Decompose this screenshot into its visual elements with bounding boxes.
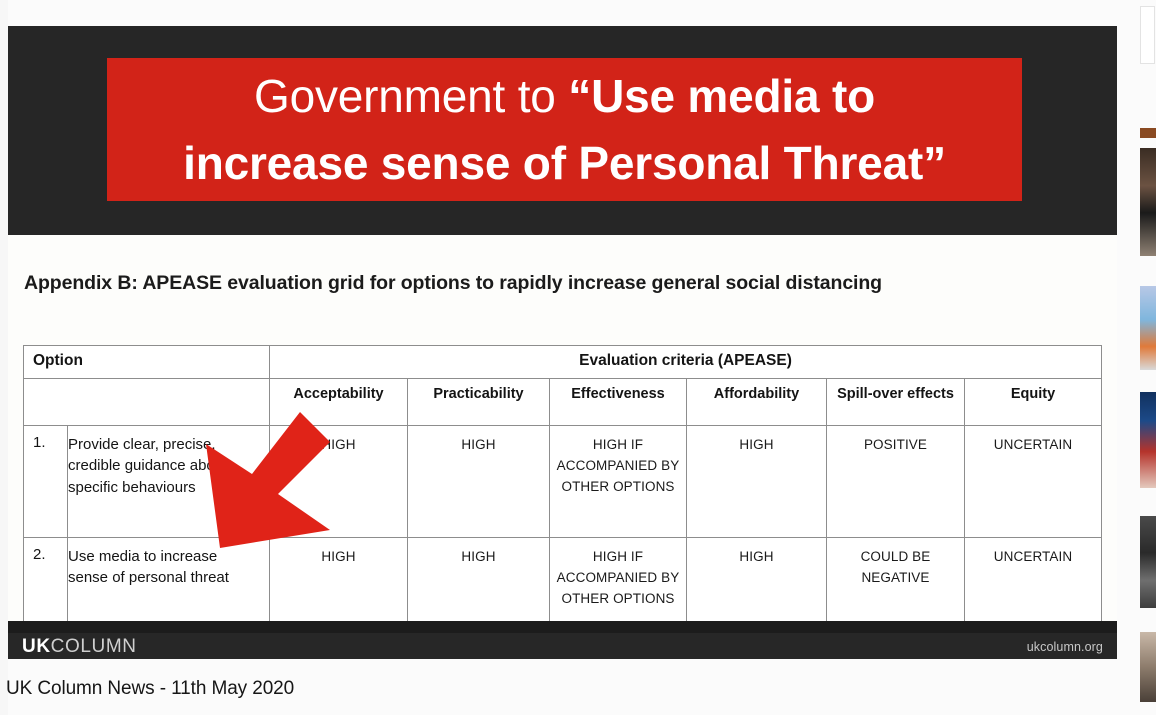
slide-document-area: Appendix B: APEASE evaluation grid for o…	[8, 235, 1117, 621]
row1-practicability: HIGH	[408, 426, 550, 538]
header-practicability: Practicability	[408, 379, 550, 426]
header-option: Option	[24, 346, 270, 379]
row2-equity: UNCERTAIN	[965, 538, 1102, 626]
rail-thumbnail[interactable]	[1140, 632, 1156, 702]
page-root: Government to “Use media to increase sen…	[0, 0, 1156, 715]
row2-effectiveness: HIGH IF ACCOMPANIED BY OTHER OPTIONS	[550, 538, 687, 626]
rail-thumbnail[interactable]	[1140, 286, 1156, 370]
header-equity: Equity	[965, 379, 1102, 426]
banner-line-1: Government to “Use media to	[254, 63, 875, 130]
row2-affordability: HIGH	[687, 538, 827, 626]
header-spacer	[24, 379, 270, 426]
apease-evaluation-table: Option Evaluation criteria (APEASE) Acce…	[23, 345, 1102, 626]
table-row: 1. Provide clear, precise, credible guid…	[24, 426, 1102, 538]
rail-item-placeholder[interactable]	[1140, 6, 1155, 64]
slide-footer-gap	[8, 621, 1117, 633]
table-header-row-criteria: Acceptability Practicability Effectivene…	[24, 379, 1102, 426]
header-affordability: Affordability	[687, 379, 827, 426]
brand-uk-text: UK	[22, 636, 51, 657]
appendix-title: Appendix B: APEASE evaluation grid for o…	[24, 272, 882, 295]
rail-thumbnail[interactable]	[1140, 148, 1156, 256]
row2-number: 2.	[24, 538, 68, 626]
row1-acceptability: HIGH	[270, 426, 408, 538]
row1-option-text: Provide clear, precise, credible guidanc…	[68, 426, 270, 538]
ukcolumn-logo: UKCOLUMN	[22, 636, 137, 658]
brand-column-text: COLUMN	[51, 636, 137, 657]
header-acceptability: Acceptability	[270, 379, 408, 426]
row2-acceptability: HIGH	[270, 538, 408, 626]
row1-number: 1.	[24, 426, 68, 538]
row2-practicability: HIGH	[408, 538, 550, 626]
slide-footer-bar: UKCOLUMN ukcolumn.org	[8, 633, 1117, 659]
header-effectiveness: Effectiveness	[550, 379, 687, 426]
site-url-text: ukcolumn.org	[1027, 640, 1103, 654]
video-player[interactable]: Government to “Use media to increase sen…	[8, 26, 1117, 659]
rail-thumbnail[interactable]	[1140, 128, 1156, 138]
row2-spillover: COULD BE NEGATIVE	[827, 538, 965, 626]
header-evaluation-criteria: Evaluation criteria (APEASE)	[270, 346, 1102, 379]
table-header-row-top: Option Evaluation criteria (APEASE)	[24, 346, 1102, 379]
banner-line-1-plain: Government to	[254, 70, 568, 122]
banner-line-1-quoted: “Use media to	[568, 70, 875, 122]
video-caption[interactable]: UK Column News - 11th May 2020	[6, 678, 294, 700]
row1-affordability: HIGH	[687, 426, 827, 538]
row1-spillover: POSITIVE	[827, 426, 965, 538]
slide-header-band: Government to “Use media to increase sen…	[8, 26, 1117, 235]
banner-line-2: increase sense of Personal Threat”	[183, 130, 946, 197]
left-gutter	[0, 0, 8, 715]
row1-effectiveness: HIGH IF ACCOMPANIED BY OTHER OPTIONS	[550, 426, 687, 538]
related-videos-rail[interactable]	[1138, 0, 1156, 715]
rail-thumbnail[interactable]	[1140, 392, 1156, 488]
row2-option-text: Use media to increase sense of personal …	[68, 538, 270, 626]
row1-equity: UNCERTAIN	[965, 426, 1102, 538]
slide-title-banner: Government to “Use media to increase sen…	[107, 58, 1022, 201]
table-row: 2. Use media to increase sense of person…	[24, 538, 1102, 626]
rail-thumbnail[interactable]	[1140, 516, 1156, 608]
header-spillover-effects: Spill-over effects	[827, 379, 965, 426]
